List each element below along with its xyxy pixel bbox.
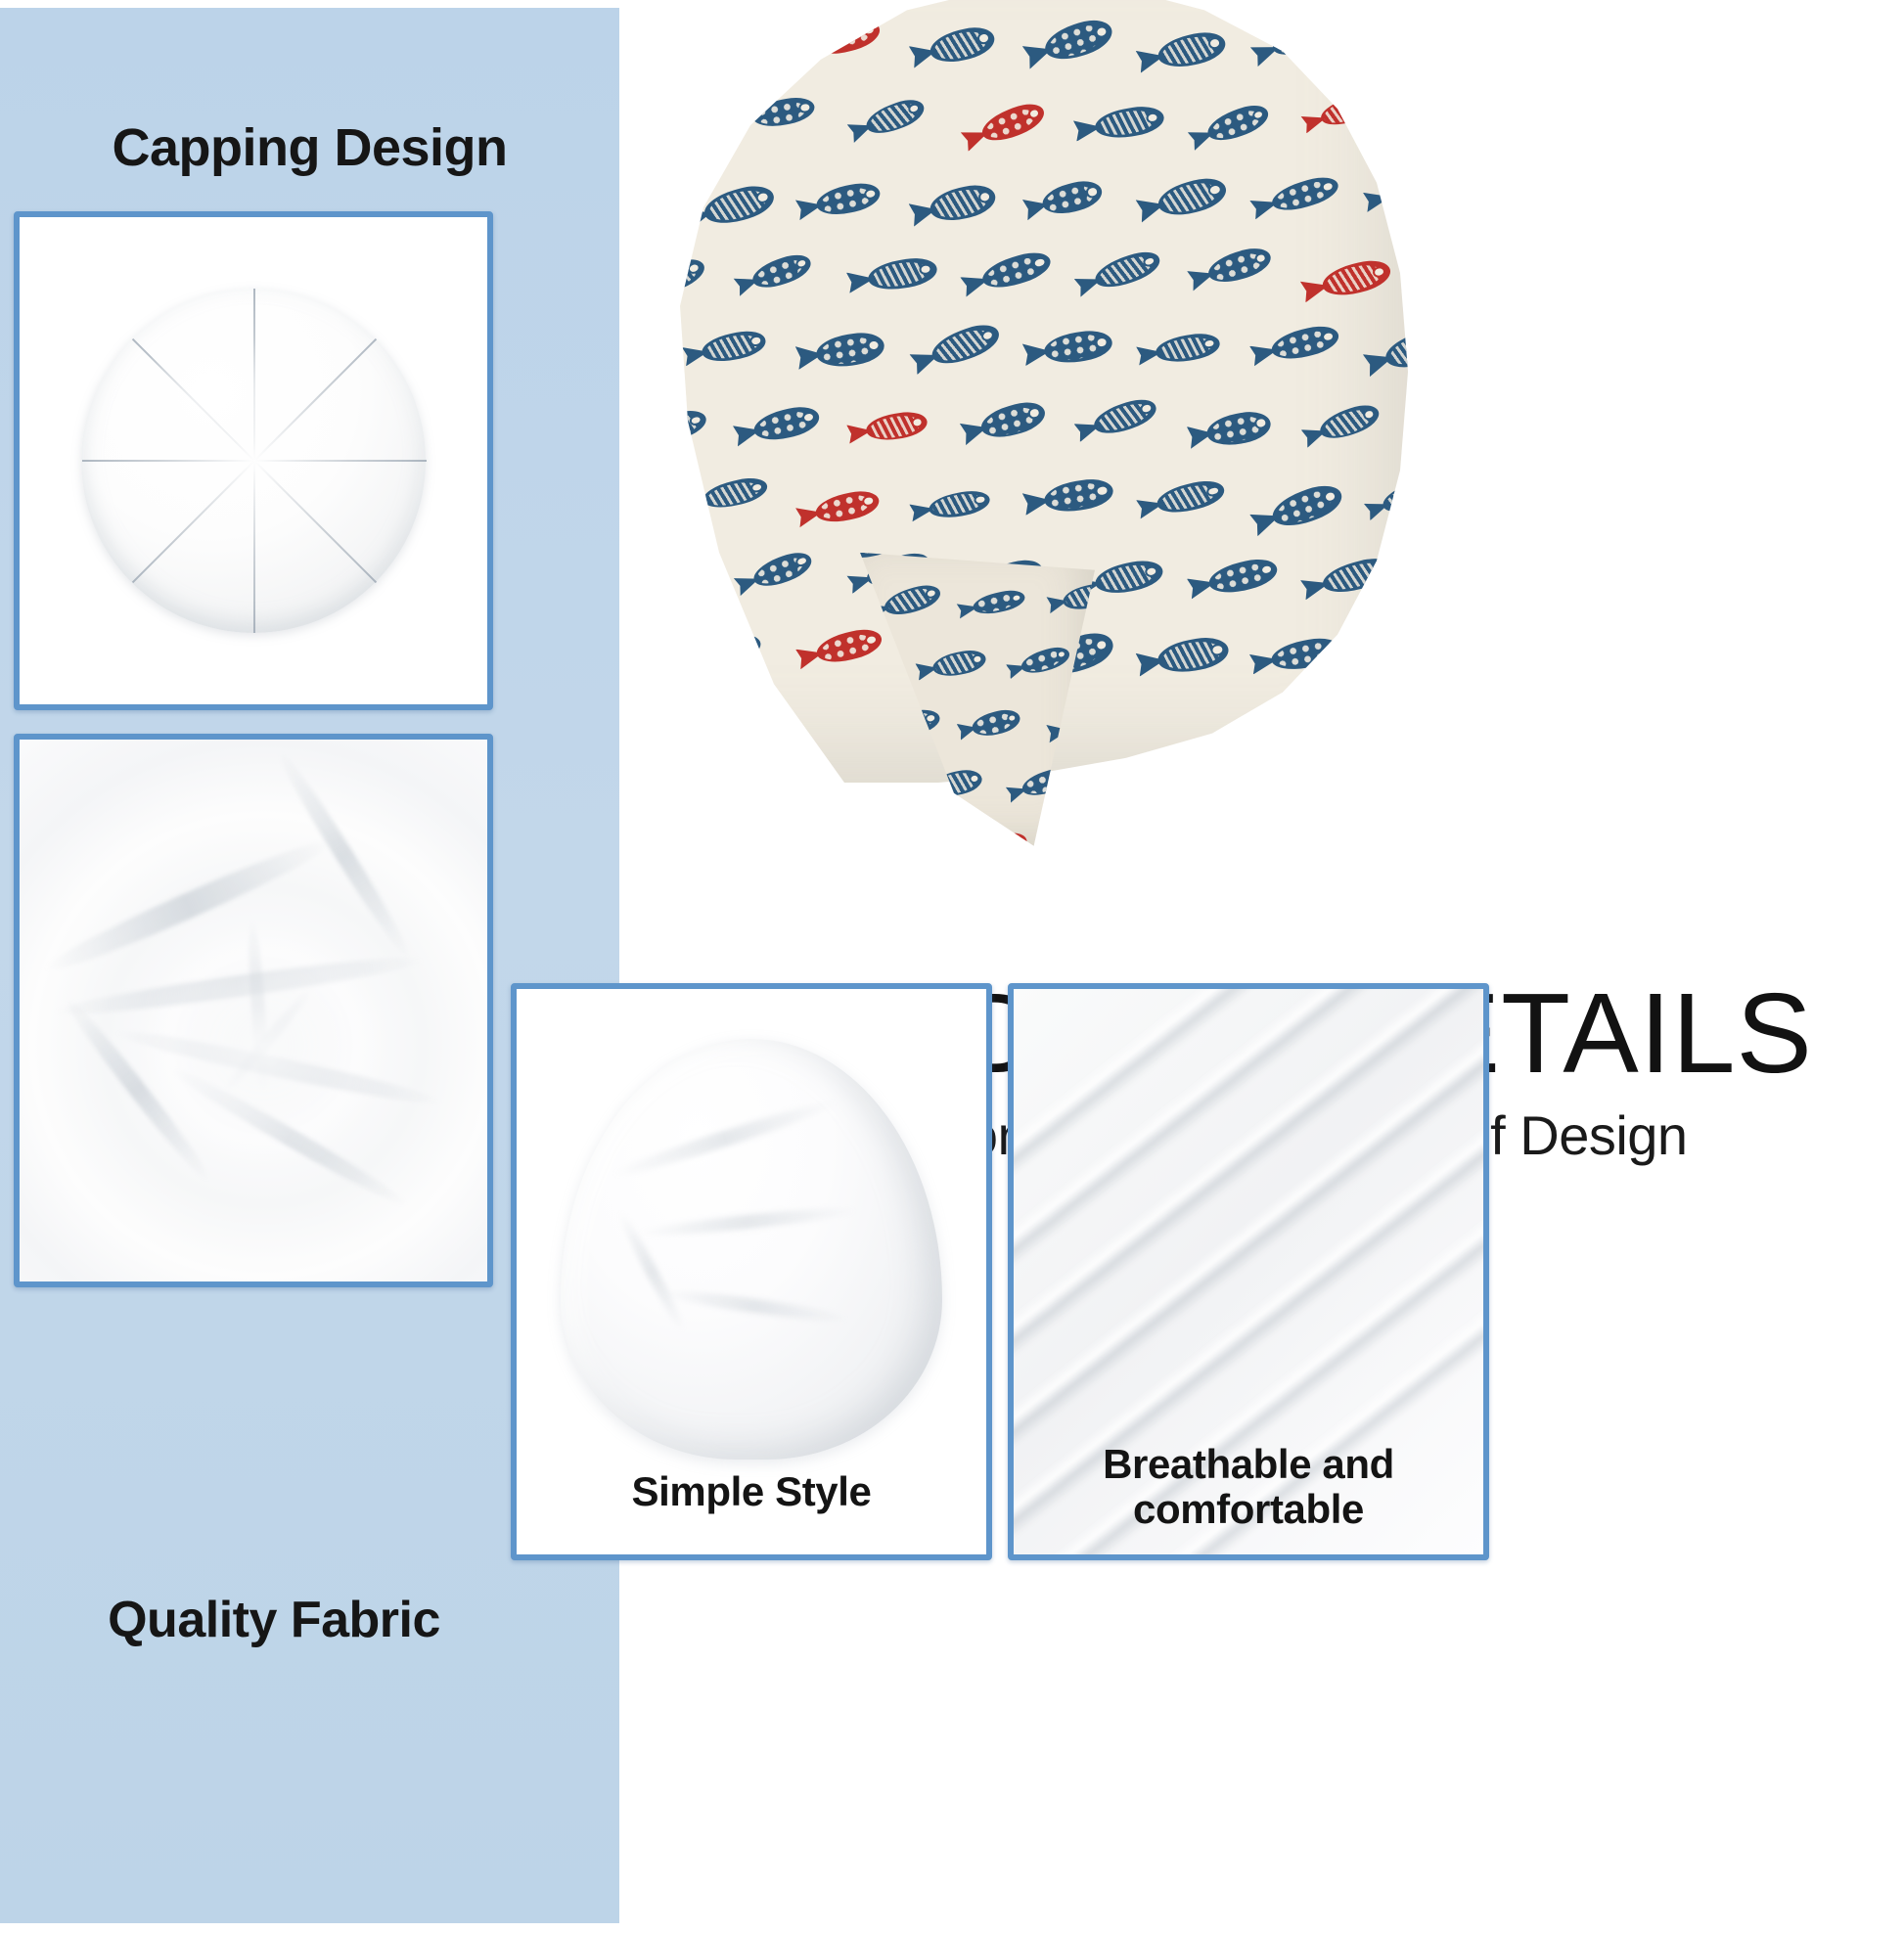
fabric-streak bbox=[39, 831, 336, 981]
cap-seam bbox=[254, 460, 427, 462]
fish-texture bbox=[973, 709, 1015, 737]
fish-body bbox=[641, 405, 709, 449]
fish-motif bbox=[1186, 88, 1288, 159]
fish-tail bbox=[1363, 652, 1393, 681]
fish-motif bbox=[795, 318, 902, 382]
fish-texture bbox=[641, 634, 648, 675]
fish-motif bbox=[1073, 93, 1181, 153]
fish-motif bbox=[1021, 166, 1119, 232]
fish-body bbox=[880, 820, 933, 846]
fish-body bbox=[1060, 824, 1095, 845]
fish-motif bbox=[1361, 616, 1424, 691]
fish-texture bbox=[1386, 174, 1424, 207]
breathable-line-1: Breathable and bbox=[1014, 1442, 1483, 1486]
fish-body bbox=[700, 26, 774, 77]
fish-motif bbox=[732, 239, 829, 305]
fish-eye bbox=[687, 566, 697, 575]
fish-motif bbox=[641, 545, 719, 608]
fish-motif bbox=[1072, 235, 1179, 306]
fish-texture bbox=[883, 824, 927, 846]
fish-texture bbox=[641, 475, 650, 517]
fish-motif bbox=[954, 817, 1044, 846]
fish-motif bbox=[732, 536, 830, 605]
cap-seam bbox=[253, 338, 377, 462]
swirl-fabric-image bbox=[14, 734, 493, 1287]
beanie-fold bbox=[637, 1204, 858, 1241]
cap-seam bbox=[253, 460, 377, 583]
fish-motif bbox=[1022, 317, 1130, 378]
fish-motif bbox=[641, 169, 670, 224]
fish-motif bbox=[956, 579, 1038, 626]
fish-tail bbox=[795, 34, 825, 61]
plain-beanie-image bbox=[561, 1039, 942, 1460]
fish-texture bbox=[641, 95, 694, 127]
fish-tail bbox=[866, 836, 888, 846]
fish-motif bbox=[907, 306, 1020, 385]
fish-motif bbox=[1362, 463, 1424, 529]
fish-texture bbox=[1385, 23, 1424, 58]
fish-body bbox=[971, 828, 1031, 846]
fish-eye bbox=[1060, 773, 1067, 780]
fish-motif bbox=[641, 6, 663, 68]
fish-tail bbox=[1414, 121, 1424, 147]
fish-motif bbox=[845, 0, 954, 1]
fish-motif bbox=[1186, 544, 1295, 610]
capping-design-title: Capping Design bbox=[0, 117, 619, 178]
fish-body bbox=[641, 469, 660, 519]
cap-crown-image bbox=[81, 289, 426, 633]
fish-eye bbox=[1376, 563, 1386, 572]
hero-beanie-image bbox=[641, 0, 1424, 783]
fish-body bbox=[641, 556, 704, 598]
fish-motif bbox=[680, 14, 791, 91]
fish-motif bbox=[1248, 160, 1358, 229]
fish-eye bbox=[684, 101, 694, 109]
fish-texture bbox=[641, 331, 652, 375]
fish-motif bbox=[794, 4, 898, 71]
simple-style-label: Simple Style bbox=[517, 1469, 986, 1513]
fish-motif bbox=[1022, 465, 1131, 527]
fish-motif bbox=[915, 639, 1000, 691]
fish-texture bbox=[642, 257, 701, 298]
fish-tail bbox=[1046, 840, 1069, 845]
fish-eye bbox=[641, 25, 642, 33]
fish-motif bbox=[1135, 17, 1245, 85]
fish-texture bbox=[1063, 828, 1095, 846]
simple-style-card[interactable]: Simple Style bbox=[511, 983, 992, 1560]
fish-motif bbox=[1135, 622, 1247, 689]
beanie-fold bbox=[610, 1096, 839, 1184]
fish-motif bbox=[959, 235, 1070, 307]
fish-motif bbox=[1412, 544, 1424, 623]
fish-motif bbox=[1045, 815, 1095, 846]
fish-body bbox=[641, 91, 702, 130]
fish-motif bbox=[794, 168, 897, 231]
fish-motif bbox=[1186, 231, 1291, 300]
fish-eye bbox=[747, 640, 755, 648]
cap-seam bbox=[253, 461, 255, 633]
fish-texture bbox=[704, 31, 766, 72]
cap-highlight bbox=[136, 330, 295, 454]
fish-motif bbox=[1299, 79, 1396, 143]
fish-motif bbox=[1249, 624, 1359, 686]
fish-eye bbox=[919, 828, 927, 834]
fish-eye bbox=[641, 337, 652, 347]
fish-texture bbox=[975, 832, 1022, 846]
fish-tail bbox=[682, 645, 708, 668]
breathable-comfortable-label: Breathable and comfortable bbox=[1014, 1442, 1483, 1531]
right-content-area: PRODUCT DETAILS Fashion Design, 2 Layers… bbox=[619, 0, 1904, 1933]
fish-motif bbox=[865, 811, 945, 846]
fish-body bbox=[641, 324, 662, 379]
fish-motif bbox=[1413, 92, 1424, 157]
fish-motif bbox=[641, 81, 715, 142]
fish-motif bbox=[1135, 467, 1242, 529]
breathable-comfortable-card[interactable]: Breathable and comfortable bbox=[1008, 983, 1489, 1560]
fish-tail bbox=[1363, 34, 1392, 62]
fish-motif bbox=[1186, 396, 1288, 460]
fish-motif bbox=[1247, 466, 1364, 548]
fish-body bbox=[641, 16, 650, 57]
fish-motif bbox=[1299, 542, 1411, 610]
fish-motif bbox=[845, 82, 942, 152]
fish-motif bbox=[1362, 159, 1424, 222]
fish-motif bbox=[955, 697, 1032, 749]
fish-motif bbox=[641, 241, 725, 316]
fish-motif bbox=[732, 391, 838, 457]
fish-tail bbox=[641, 426, 650, 452]
fish-eye bbox=[1365, 99, 1375, 107]
fabric-streak bbox=[59, 993, 215, 1187]
fish-texture bbox=[641, 561, 697, 595]
fish-eye bbox=[641, 188, 648, 196]
fish-body bbox=[641, 178, 656, 213]
breathable-line-2: comfortable bbox=[1014, 1487, 1483, 1531]
fish-motif bbox=[1413, 388, 1424, 452]
fish-motif bbox=[1299, 245, 1409, 314]
fish-texture bbox=[1321, 93, 1375, 127]
fish-body bbox=[1382, 20, 1424, 62]
fish-motif bbox=[682, 621, 777, 678]
fish-motif bbox=[1299, 389, 1397, 457]
fish-eye bbox=[641, 480, 651, 490]
fish-tail bbox=[641, 278, 652, 306]
fish-texture bbox=[1273, 18, 1334, 59]
capping-design-card[interactable] bbox=[14, 211, 493, 710]
fish-eye bbox=[753, 38, 764, 48]
cap-seam bbox=[253, 289, 255, 461]
fish-motif bbox=[1136, 322, 1236, 376]
fish-body bbox=[813, 15, 883, 59]
fish-eye bbox=[1014, 837, 1022, 846]
fish-body bbox=[641, 252, 709, 302]
quality-fabric-label: Quality Fabric bbox=[0, 1591, 548, 1649]
fish-body bbox=[641, 627, 657, 678]
quality-fabric-card[interactable] bbox=[14, 734, 493, 1287]
fish-motif bbox=[641, 394, 725, 462]
fish-motif bbox=[1248, 310, 1357, 377]
cap-seam bbox=[132, 460, 255, 583]
fish-eye bbox=[1324, 645, 1335, 653]
cap-seam bbox=[82, 460, 254, 462]
fish-tail bbox=[1414, 581, 1424, 611]
fish-tail bbox=[641, 573, 648, 599]
fish-motif bbox=[682, 318, 783, 377]
fish-motif bbox=[1134, 161, 1246, 235]
fish-motif bbox=[909, 478, 1006, 530]
fish-motif bbox=[958, 385, 1064, 457]
cap-seam bbox=[132, 338, 255, 462]
fish-body bbox=[699, 631, 762, 668]
fish-body bbox=[1380, 628, 1424, 677]
fish-body bbox=[1382, 170, 1424, 211]
fish-motif bbox=[1413, 0, 1424, 9]
fish-motif bbox=[907, 11, 1013, 79]
fish-tail bbox=[1414, 262, 1424, 288]
fish-motif bbox=[1072, 383, 1175, 452]
fish-motif bbox=[1362, 9, 1424, 73]
fish-tail bbox=[1414, 417, 1424, 442]
fish-body bbox=[1268, 11, 1343, 63]
fish-motif bbox=[958, 85, 1065, 161]
fish-body bbox=[1380, 473, 1424, 517]
fish-texture bbox=[642, 410, 701, 446]
fish-motif bbox=[641, 457, 676, 534]
fish-motif bbox=[1413, 232, 1424, 298]
fish-motif bbox=[680, 167, 794, 243]
fish-motif bbox=[682, 464, 785, 523]
fish-motif bbox=[846, 244, 954, 303]
fish-eye bbox=[1323, 22, 1334, 32]
fish-motif bbox=[641, 310, 678, 393]
fish-motif bbox=[794, 614, 900, 681]
fish-texture bbox=[868, 413, 922, 441]
fish-motif bbox=[733, 84, 832, 141]
fish-motif bbox=[1020, 0, 1133, 80]
fish-texture bbox=[1384, 633, 1424, 673]
fish-eye bbox=[868, 340, 878, 349]
fabric-streak bbox=[52, 950, 425, 1023]
fish-tail bbox=[641, 109, 647, 132]
fish-motif bbox=[1361, 310, 1424, 388]
fish-texture bbox=[703, 634, 755, 664]
fish-motif bbox=[846, 400, 942, 454]
fish-tail bbox=[733, 109, 760, 132]
beanie-fold bbox=[659, 1286, 850, 1326]
fish-tail bbox=[1363, 187, 1392, 212]
fish-tail bbox=[682, 49, 714, 79]
fish-motif bbox=[907, 168, 1014, 239]
left-feature-panel: Capping Design Quality Fabric bbox=[0, 8, 619, 1923]
fish-motif bbox=[794, 476, 895, 538]
fish-eye bbox=[641, 639, 648, 649]
fish-motif bbox=[641, 615, 673, 693]
fish-motif bbox=[1247, 0, 1360, 76]
fish-texture bbox=[641, 182, 646, 210]
